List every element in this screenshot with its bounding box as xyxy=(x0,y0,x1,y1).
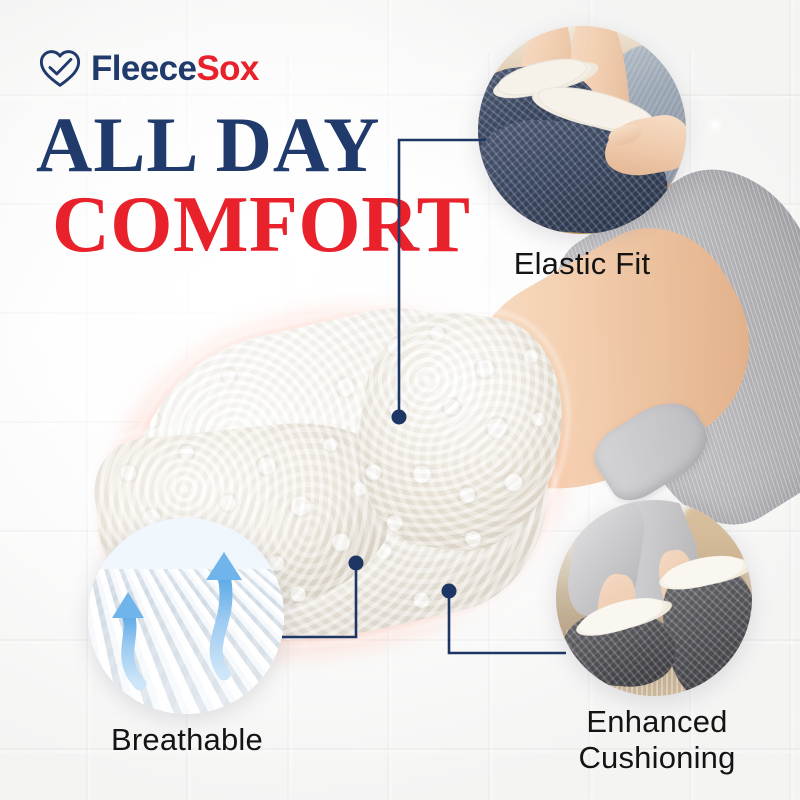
callout-image-enhanced-cushioning[interactable] xyxy=(556,500,752,696)
ad-canvas: FleeceSox ALL DAY COMFORT xyxy=(0,0,800,800)
brand-name-primary: Fleece xyxy=(91,49,196,88)
cushioning-scene xyxy=(556,500,752,696)
callout-image-elastic-fit[interactable] xyxy=(478,26,686,234)
elastic-fit-scene xyxy=(478,26,686,234)
page-title: ALL DAY COMFORT xyxy=(36,108,470,264)
brand-name: FleeceSox xyxy=(91,51,259,86)
brand-logo[interactable]: FleeceSox xyxy=(38,44,259,92)
brand-name-accent: Sox xyxy=(196,49,258,88)
callout-label-elastic-fit: Elastic Fit xyxy=(452,246,712,282)
airflow-arrows xyxy=(88,518,284,714)
headline-line-2: COMFORT xyxy=(36,187,470,264)
callout-image-breathable[interactable] xyxy=(88,518,284,714)
heart-check-icon xyxy=(38,48,82,88)
callout-label-breathable: Breathable xyxy=(52,722,322,758)
breathable-scene xyxy=(88,518,284,714)
headline-line-1: ALL DAY xyxy=(36,108,470,183)
callout-label-enhanced-cushioning: Enhanced Cushioning xyxy=(514,704,800,776)
